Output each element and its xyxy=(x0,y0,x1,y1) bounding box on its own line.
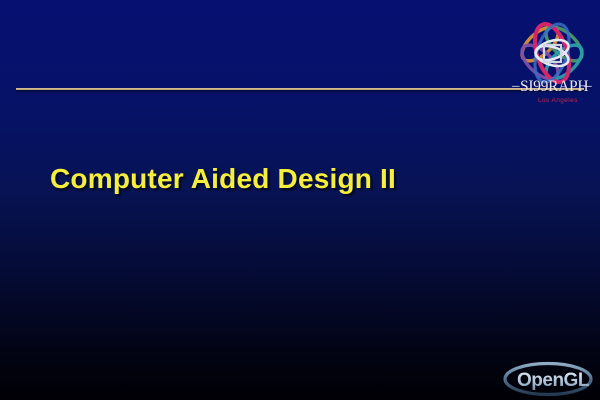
opengl-logo: OpenGL . xyxy=(503,361,597,397)
siggraph-dash-left: – xyxy=(511,78,520,94)
opengl-wordmark: OpenGL xyxy=(517,370,590,391)
siggraph-rings-group xyxy=(516,20,587,86)
siggraph-wordmark: SI99RAPH xyxy=(520,78,588,95)
header-divider-rule xyxy=(16,88,584,93)
siggraph99-logo: – SI99RAPH – Los Angeles xyxy=(508,4,596,106)
siggraph-location: Los Angeles xyxy=(538,97,578,104)
divider-shadow xyxy=(16,90,584,93)
opengl-trademark-dot: . xyxy=(584,374,588,389)
siggraph-wordmark-group: – SI99RAPH – Los Angeles xyxy=(511,78,592,104)
siggraph-dash-right: – xyxy=(583,78,592,94)
presentation-slide: – SI99RAPH – Los Angeles Computer Aided … xyxy=(0,0,600,400)
slide-title: Computer Aided Design II xyxy=(50,163,396,195)
